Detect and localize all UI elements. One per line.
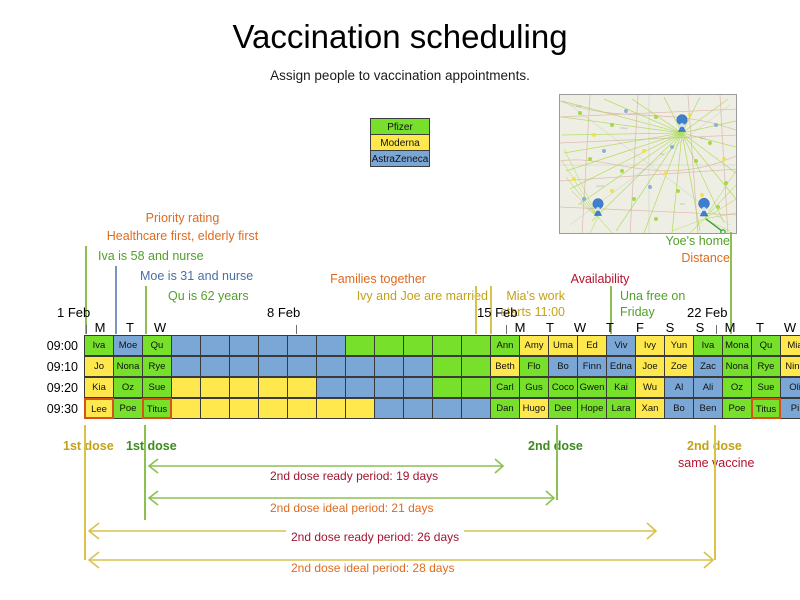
appointment-cell[interactable]: Iva: [693, 335, 723, 356]
day-of-week-label: S: [655, 320, 685, 335]
svg-text:Port: Port: [680, 202, 685, 206]
appointment-cell[interactable]: Poe: [113, 398, 143, 419]
appointment-cell-empty[interactable]: [200, 356, 230, 377]
appointment-cell-empty[interactable]: [200, 398, 230, 419]
appointment-cell[interactable]: Nona: [722, 356, 752, 377]
appointment-cell[interactable]: Carl: [490, 377, 520, 398]
appointment-cell-empty[interactable]: [345, 335, 375, 356]
appointment-cell[interactable]: Hugo: [519, 398, 549, 419]
appointment-cell-empty[interactable]: [345, 398, 375, 419]
appointment-cell-empty[interactable]: [287, 335, 317, 356]
appointment-cell[interactable]: Yun: [664, 335, 694, 356]
appointment-cell[interactable]: Oli: [780, 377, 800, 398]
appointment-cell-empty[interactable]: [461, 377, 491, 398]
appointment-cell[interactable]: Iva: [84, 335, 114, 356]
appointment-cell-empty[interactable]: [258, 398, 288, 419]
appointment-cell-empty[interactable]: [287, 356, 317, 377]
guide-line-yoe: [730, 232, 732, 334]
page-subtitle: Assign people to vaccination appointment…: [0, 68, 800, 83]
annotation-una-line2: Friday: [620, 305, 655, 319]
appointment-cell[interactable]: Lee: [84, 398, 114, 419]
time-label: 09:20: [18, 381, 78, 395]
period-label-1: 2nd dose ideal period: 21 days: [265, 501, 438, 515]
appointment-cell-empty[interactable]: [403, 377, 433, 398]
appointment-cell-empty[interactable]: [229, 356, 259, 377]
appointment-cell[interactable]: Moe: [113, 335, 143, 356]
appointment-cell[interactable]: Kia: [84, 377, 114, 398]
day-of-week-label: F: [625, 320, 655, 335]
annotation-distance: Distance: [580, 251, 730, 265]
appointment-cell-empty[interactable]: [374, 377, 404, 398]
first-dose-label-olive: 1st dose: [63, 439, 114, 453]
appointment-cell[interactable]: Wu: [635, 377, 665, 398]
period-label-3: 2nd dose ideal period: 28 days: [286, 561, 459, 575]
appointment-cell[interactable]: Coco: [548, 377, 578, 398]
appointment-cell[interactable]: Qu: [751, 335, 781, 356]
appointment-cell-empty[interactable]: [287, 398, 317, 419]
date-tick: [86, 325, 87, 334]
appointment-cell[interactable]: Ann: [490, 335, 520, 356]
appointment-cell[interactable]: Mona: [722, 335, 752, 356]
appointment-cell[interactable]: Amy: [519, 335, 549, 356]
appointment-cell[interactable]: Viv: [606, 335, 636, 356]
appointment-cell[interactable]: Oz: [113, 377, 143, 398]
annotation-una-line1: Una free on: [620, 289, 685, 303]
appointment-cell[interactable]: Zoe: [664, 356, 694, 377]
appointment-cell[interactable]: Rye: [142, 356, 172, 377]
svg-text:Burg: Burg: [700, 136, 706, 140]
appointment-cell-empty[interactable]: [171, 356, 201, 377]
appointment-cell-empty[interactable]: [229, 335, 259, 356]
appointment-cell-empty[interactable]: [374, 398, 404, 419]
appointment-cell-empty[interactable]: [316, 377, 346, 398]
annotation-families: Families together: [298, 272, 458, 286]
appointment-cell[interactable]: Pi: [780, 398, 800, 419]
date-label: 15 Feb: [477, 305, 517, 320]
appointment-cell[interactable]: Al: [664, 377, 694, 398]
time-label: 09:30: [18, 402, 78, 416]
appointment-cell[interactable]: Joe: [635, 356, 665, 377]
schedule-grid: IvaMoeQuAnnAmyUmaEdVivIvyYunIvaMonaQuMia…: [85, 336, 800, 420]
appointment-cell-empty[interactable]: [345, 356, 375, 377]
schedule-row: IvaMoeQuAnnAmyUmaEdVivIvyYunIvaMonaQuMia…: [85, 336, 800, 357]
appointment-cell-empty[interactable]: [374, 335, 404, 356]
appointment-cell[interactable]: Rye: [751, 356, 781, 377]
day-of-week-label: M: [85, 320, 115, 335]
appointment-cell[interactable]: Sue: [142, 377, 172, 398]
annotation-availability: Availability: [545, 272, 655, 286]
appointment-cell[interactable]: Kai: [606, 377, 636, 398]
appointment-cell[interactable]: Jo: [84, 356, 114, 377]
appointment-cell[interactable]: Qu: [142, 335, 172, 356]
second-dose-label-green: 2nd dose: [528, 439, 583, 453]
appointment-cell-empty[interactable]: [200, 335, 230, 356]
schedule-row: KiaOzSueCarlGusCocoGwenKaiWuAlAliOzSueOl…: [85, 378, 800, 399]
legend-item-astrazeneca: AstraZeneca: [370, 150, 430, 167]
time-label: 09:00: [18, 339, 78, 353]
appointment-cell-empty[interactable]: [345, 377, 375, 398]
day-of-week-label: W: [145, 320, 175, 335]
date-label: 1 Feb: [57, 305, 90, 320]
appointment-cell[interactable]: Ivy: [635, 335, 665, 356]
appointment-cell-empty[interactable]: [432, 356, 462, 377]
appointment-cell-empty[interactable]: [171, 398, 201, 419]
appointment-cell[interactable]: Zac: [693, 356, 723, 377]
distance-map: TownVillageCity BurgHamletPort: [559, 94, 737, 234]
appointment-cell[interactable]: Titus: [142, 398, 172, 419]
appointment-cell-empty[interactable]: [258, 356, 288, 377]
appointment-cell[interactable]: Nina: [780, 356, 800, 377]
svg-text:Town: Town: [576, 104, 583, 108]
date-tick: [506, 325, 507, 334]
map-graphic: TownVillageCity BurgHamletPort: [560, 95, 737, 234]
day-of-week-label: T: [745, 320, 775, 335]
appointment-cell[interactable]: Poe: [722, 398, 752, 419]
date-label: 22 Feb: [687, 305, 727, 320]
period-label-0: 2nd dose ready period: 19 days: [265, 469, 443, 483]
schedule-row: JoNonaRyeBethFloBoFinnEdnaJoeZoeZacNonaR…: [85, 357, 800, 378]
day-of-week-label: W: [775, 320, 800, 335]
annotation-yoes-home: Yoe's home: [580, 234, 730, 248]
svg-text:City: City: [660, 152, 665, 156]
appointment-cell[interactable]: Titus: [751, 398, 781, 419]
annotation-priority-rating: Priority rating: [105, 211, 260, 225]
appointment-cell-empty[interactable]: [432, 335, 462, 356]
day-of-week-label: T: [535, 320, 565, 335]
appointment-cell-empty[interactable]: [374, 356, 404, 377]
date-tick: [296, 325, 297, 334]
page-title: Vaccination scheduling: [0, 18, 800, 56]
appointment-cell[interactable]: Gwen: [577, 377, 607, 398]
day-of-week-label: S: [685, 320, 715, 335]
appointment-cell[interactable]: Uma: [548, 335, 578, 356]
same-vaccine-label: same vaccine: [678, 456, 754, 470]
date-label: 8 Feb: [267, 305, 300, 320]
appointment-cell[interactable]: Edna: [606, 356, 636, 377]
day-of-week-label: M: [715, 320, 745, 335]
appointment-cell[interactable]: Finn: [577, 356, 607, 377]
appointment-cell[interactable]: Ali: [693, 377, 723, 398]
day-of-week-label: W: [565, 320, 595, 335]
annotation-ivy-joe: Ivy and Joe are married: [268, 289, 488, 303]
appointment-cell-empty[interactable]: [316, 398, 346, 419]
schedule-row: LeePoeTitusDanHugoDeeHopeLaraXanBoBenPoe…: [85, 399, 800, 420]
appointment-cell[interactable]: Xan: [635, 398, 665, 419]
appointment-cell[interactable]: Gus: [519, 377, 549, 398]
time-label: 09:10: [18, 360, 78, 374]
appointment-cell-empty[interactable]: [200, 377, 230, 398]
appointment-cell[interactable]: Sue: [751, 377, 781, 398]
svg-text:Village: Village: [620, 126, 628, 130]
appointment-cell[interactable]: Bo: [548, 356, 578, 377]
appointment-cell[interactable]: Flo: [519, 356, 549, 377]
appointment-cell-empty[interactable]: [258, 335, 288, 356]
appointment-cell-empty[interactable]: [461, 335, 491, 356]
appointment-cell[interactable]: Dee: [548, 398, 578, 419]
appointment-cell[interactable]: Hope: [577, 398, 607, 419]
appointment-cell[interactable]: Beth: [490, 356, 520, 377]
appointment-cell[interactable]: Ben: [693, 398, 723, 419]
appointment-cell-empty[interactable]: [403, 335, 433, 356]
annotation-moe: Moe is 31 and nurse: [140, 269, 253, 283]
svg-text:Hamlet: Hamlet: [596, 184, 604, 188]
annotation-qu: Qu is 62 years: [168, 289, 249, 303]
annotation-mia-line1: Mia's work: [490, 289, 565, 303]
appointment-cell[interactable]: Ed: [577, 335, 607, 356]
day-of-week-label: T: [115, 320, 145, 335]
annotation-priority-sub: Healthcare first, elderly first: [85, 229, 280, 243]
appointment-cell-empty[interactable]: [432, 398, 462, 419]
legend-item-moderna: Moderna: [370, 134, 430, 151]
legend-item-pfizer: Pfizer: [370, 118, 430, 135]
vaccine-legend: Pfizer Moderna AstraZeneca: [370, 118, 430, 166]
appointment-cell-empty[interactable]: [432, 377, 462, 398]
day-of-week-label: M: [505, 320, 535, 335]
appointment-cell-empty[interactable]: [229, 377, 259, 398]
appointment-cell-empty[interactable]: [258, 377, 288, 398]
appointment-cell[interactable]: Nona: [113, 356, 143, 377]
appointment-cell-empty[interactable]: [287, 377, 317, 398]
appointment-cell-empty[interactable]: [229, 398, 259, 419]
appointment-cell[interactable]: Lara: [606, 398, 636, 419]
appointment-cell[interactable]: Dan: [490, 398, 520, 419]
appointment-cell[interactable]: Oz: [722, 377, 752, 398]
appointment-cell-empty[interactable]: [316, 335, 346, 356]
appointment-cell[interactable]: Bo: [664, 398, 694, 419]
appointment-cell-empty[interactable]: [171, 377, 201, 398]
appointment-cell-empty[interactable]: [403, 398, 433, 419]
appointment-cell-empty[interactable]: [403, 356, 433, 377]
first-dose-label-green: 1st dose: [126, 439, 177, 453]
appointment-cell-empty[interactable]: [171, 335, 201, 356]
annotation-iva: Iva is 58 and nurse: [98, 249, 204, 263]
appointment-cell[interactable]: Mia: [780, 335, 800, 356]
appointment-cell-empty[interactable]: [316, 356, 346, 377]
period-label-2: 2nd dose ready period: 26 days: [286, 530, 464, 544]
appointment-cell-empty[interactable]: [461, 356, 491, 377]
appointment-cell-empty[interactable]: [461, 398, 491, 419]
second-dose-label-olive: 2nd dose: [687, 439, 742, 453]
day-of-week-label: T: [595, 320, 625, 335]
date-tick: [716, 325, 717, 334]
